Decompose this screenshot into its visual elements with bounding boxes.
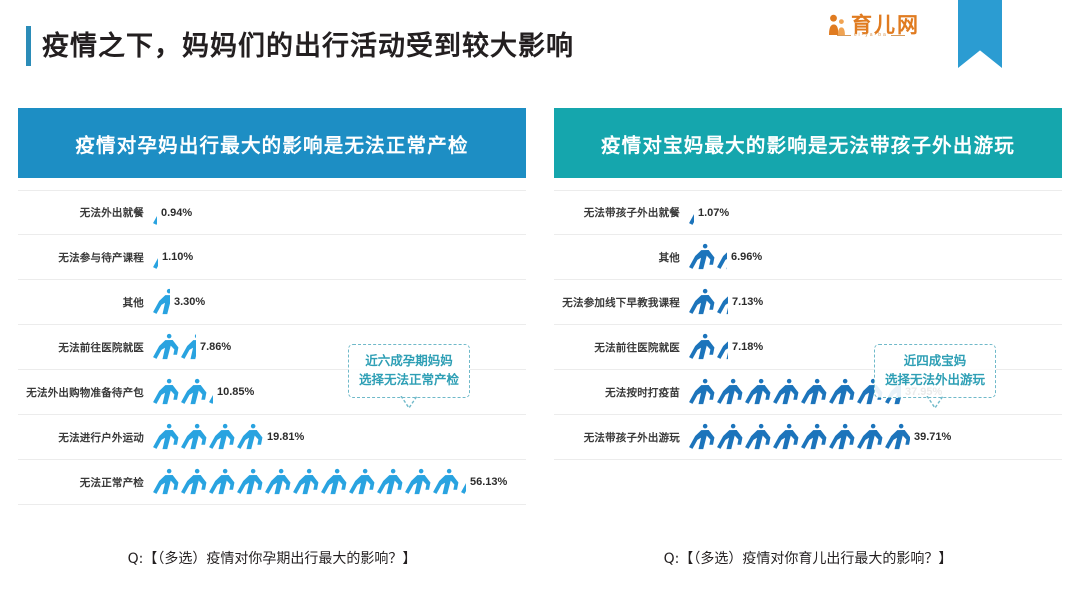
chart-row-label: 无法带孩子外出游玩 bbox=[554, 430, 688, 445]
chart-row-pictograms: 7.13% bbox=[688, 280, 1062, 325]
chart-row-label: 无法前往医院就医 bbox=[18, 340, 152, 355]
running-person-icon bbox=[688, 198, 694, 228]
running-person-icon bbox=[180, 422, 208, 452]
running-person-icon bbox=[716, 242, 727, 272]
running-person-icon bbox=[152, 198, 157, 228]
panel-header-left: 疫情对孕妈出行最大的影响是无法正常产检 bbox=[18, 108, 526, 178]
chart-row-label: 其他 bbox=[18, 295, 152, 310]
running-person-icon bbox=[236, 467, 264, 497]
running-person-icon bbox=[152, 332, 180, 362]
panel-pregnant-moms: 疫情对孕妈出行最大的影响是无法正常产检 无法外出就餐0.94%无法参与待产课程1… bbox=[18, 108, 526, 505]
chart-row-value: 19.81% bbox=[267, 431, 304, 443]
chart-row: 无法带孩子外出就餐1.07% bbox=[554, 190, 1062, 235]
running-person-icon bbox=[180, 377, 208, 407]
running-person-icon bbox=[152, 377, 180, 407]
running-person-icon bbox=[772, 377, 800, 407]
chart-row-label: 无法外出购物准备待产包 bbox=[18, 385, 152, 400]
slide-canvas: 疫情之下，妈妈们的出行活动受到较大影响 育儿网 ci-ya-ba 疫情对孕妈出行… bbox=[0, 0, 1080, 608]
running-person-icon bbox=[856, 422, 884, 452]
page-title: 疫情之下，妈妈们的出行活动受到较大影响 bbox=[42, 26, 574, 66]
running-person-icon bbox=[688, 377, 716, 407]
running-person-icon bbox=[828, 377, 856, 407]
pictogram-chart-left: 无法外出就餐0.94%无法参与待产课程1.10%其他3.30%无法前往医院就医7… bbox=[18, 178, 526, 505]
running-person-icon bbox=[348, 467, 376, 497]
chart-row-pictograms: 1.10% bbox=[152, 235, 526, 280]
ribbon-decoration bbox=[958, 0, 1002, 68]
chart-row-value: 10.85% bbox=[217, 386, 254, 398]
chart-row-value: 56.13% bbox=[470, 476, 507, 488]
running-person-icon bbox=[884, 422, 910, 452]
chart-row-value: 7.13% bbox=[732, 296, 763, 308]
running-person-icon bbox=[688, 422, 716, 452]
chart-row-label: 无法按时打疫苗 bbox=[554, 385, 688, 400]
chart-row-value: 0.94% bbox=[161, 207, 192, 219]
callout-left-tail bbox=[400, 396, 418, 410]
callout-right: 近四成宝妈 选择无法外出游玩 bbox=[874, 344, 996, 398]
chart-row: 其他3.30% bbox=[18, 280, 526, 325]
panel-header-right-title: 疫情对宝妈最大的影响是无法带孩子外出游玩 bbox=[601, 129, 1015, 158]
pictogram-chart-right: 无法带孩子外出就餐1.07%其他6.96%无法参加线下早教我课程7.13%无法前… bbox=[554, 178, 1062, 460]
callout-left: 近六成孕期妈妈 选择无法正常产检 bbox=[348, 344, 470, 398]
running-person-icon bbox=[744, 422, 772, 452]
question-left: Q:【（多选）疫情对你孕期出行最大的影响？】 bbox=[18, 548, 526, 568]
chart-row-label: 无法参与待产课程 bbox=[18, 250, 152, 265]
running-person-icon bbox=[688, 287, 716, 317]
running-person-icon bbox=[716, 377, 744, 407]
running-person-icon bbox=[236, 422, 263, 452]
chart-row: 无法带孩子外出游玩39.71% bbox=[554, 415, 1062, 460]
running-person-icon bbox=[180, 332, 196, 362]
title-accent-bar bbox=[26, 26, 31, 66]
chart-row-value: 39.71% bbox=[914, 431, 951, 443]
chart-row: 无法外出就餐0.94% bbox=[18, 190, 526, 235]
chart-row-pictograms: 6.96% bbox=[688, 235, 1062, 280]
question-right: Q:【（多选）疫情对你育儿出行最大的影响？】 bbox=[554, 548, 1062, 568]
callout-right-line1: 近四成宝妈 bbox=[885, 352, 985, 371]
brand-logo: 育儿网 ci-ya-ba bbox=[828, 8, 920, 42]
running-person-icon bbox=[376, 467, 404, 497]
running-person-icon bbox=[404, 467, 432, 497]
chart-row-label: 无法进行户外运动 bbox=[18, 430, 152, 445]
chart-row-label: 无法前往医院就医 bbox=[554, 340, 688, 355]
running-person-icon bbox=[152, 287, 170, 317]
running-person-icon bbox=[716, 332, 728, 362]
parent-child-icon bbox=[828, 14, 848, 36]
chart-row-value: 7.18% bbox=[732, 341, 763, 353]
chart-row-pictograms: 3.30% bbox=[152, 280, 526, 325]
running-person-icon bbox=[744, 377, 772, 407]
running-person-icon bbox=[460, 467, 466, 497]
panel-baby-moms: 疫情对宝妈最大的影响是无法带孩子外出游玩 无法带孩子外出就餐1.07%其他6.9… bbox=[554, 108, 1062, 460]
chart-row-label: 无法正常产检 bbox=[18, 475, 152, 490]
chart-row: 无法参加线下早教我课程7.13% bbox=[554, 280, 1062, 325]
chart-row-pictograms: 39.71% bbox=[688, 415, 1062, 460]
chart-row-value: 1.10% bbox=[162, 251, 193, 263]
chart-row-value: 1.07% bbox=[698, 207, 729, 219]
chart-row-label: 其他 bbox=[554, 250, 688, 265]
running-person-icon bbox=[152, 242, 158, 272]
chart-row-pictograms: 19.81% bbox=[152, 415, 526, 460]
chart-row-value: 6.96% bbox=[731, 251, 762, 263]
panel-header-left-title: 疫情对孕妈出行最大的影响是无法正常产检 bbox=[75, 129, 468, 158]
chart-row-pictograms: 56.13% bbox=[152, 460, 526, 505]
running-person-icon bbox=[688, 332, 716, 362]
chart-row-value: 3.30% bbox=[174, 296, 205, 308]
running-person-icon bbox=[772, 422, 800, 452]
running-person-icon bbox=[264, 467, 292, 497]
running-person-icon bbox=[208, 467, 236, 497]
chart-row: 其他6.96% bbox=[554, 235, 1062, 280]
panel-header-right: 疫情对宝妈最大的影响是无法带孩子外出游玩 bbox=[554, 108, 1062, 178]
chart-row: 无法正常产检56.13% bbox=[18, 460, 526, 505]
chart-row: 无法参与待产课程1.10% bbox=[18, 235, 526, 280]
running-person-icon bbox=[432, 467, 460, 497]
chart-row-label: 无法外出就餐 bbox=[18, 205, 152, 220]
running-person-icon bbox=[208, 422, 236, 452]
running-person-icon bbox=[208, 377, 213, 407]
callout-right-tail bbox=[926, 396, 944, 410]
running-person-icon bbox=[800, 422, 828, 452]
running-person-icon bbox=[320, 467, 348, 497]
chart-row-label: 无法带孩子外出就餐 bbox=[554, 205, 688, 220]
running-person-icon bbox=[828, 422, 856, 452]
chart-row-value: 7.86% bbox=[200, 341, 231, 353]
callout-right-line2: 选择无法外出游玩 bbox=[885, 371, 985, 390]
brand-subtitle: ci-ya-ba bbox=[854, 32, 888, 38]
chart-row: 无法进行户外运动19.81% bbox=[18, 415, 526, 460]
chart-row-label: 无法参加线下早教我课程 bbox=[554, 295, 688, 310]
running-person-icon bbox=[180, 467, 208, 497]
callout-left-line2: 选择无法正常产检 bbox=[359, 371, 459, 390]
running-person-icon bbox=[688, 242, 716, 272]
running-person-icon bbox=[292, 467, 320, 497]
chart-row-pictograms: 0.94% bbox=[152, 190, 526, 235]
running-person-icon bbox=[152, 467, 180, 497]
running-person-icon bbox=[152, 422, 180, 452]
running-person-icon bbox=[800, 377, 828, 407]
running-person-icon bbox=[716, 287, 728, 317]
callout-left-line1: 近六成孕期妈妈 bbox=[359, 352, 459, 371]
chart-row-pictograms: 1.07% bbox=[688, 190, 1062, 235]
running-person-icon bbox=[716, 422, 744, 452]
